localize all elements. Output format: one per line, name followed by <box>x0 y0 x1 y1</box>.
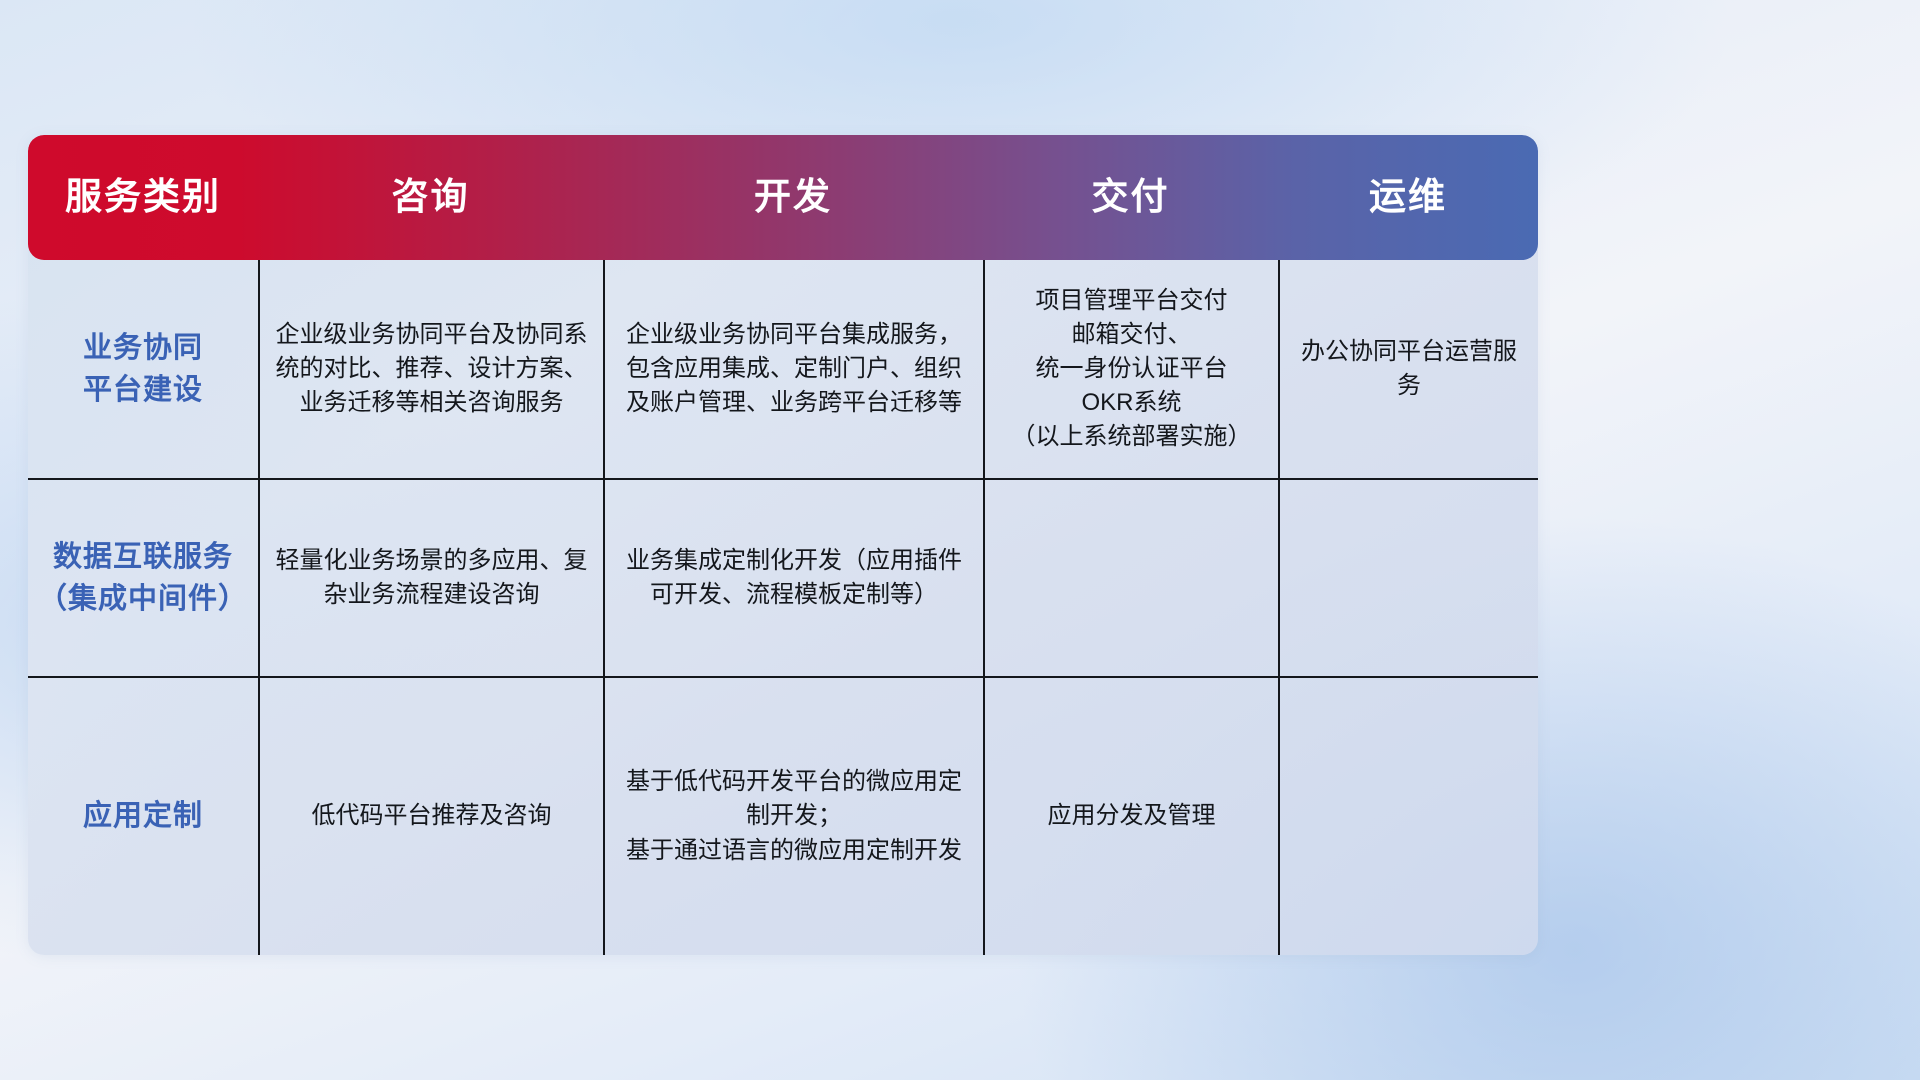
cell-consulting: 企业级业务协同平台及协同系 统的对比、推荐、设计方案、 业务迁移等相关咨询服务 <box>258 260 603 478</box>
table-header-row: 服务类别 咨询 开发 交付 运维 <box>28 135 1538 260</box>
cell-delivery: 应用分发及管理 <box>983 678 1278 955</box>
column-header-delivery: 交付 <box>983 177 1278 218</box>
cell-operations <box>1278 480 1538 676</box>
table-row: 数据互联服务 （集成中间件） 轻量化业务场景的多应用、复 杂业务流程建设咨询 业… <box>28 478 1538 676</box>
row-category-label: 应用定制 <box>28 678 258 955</box>
column-header-service-category: 服务类别 <box>28 177 258 218</box>
cell-operations: 办公协同平台运营服务 <box>1278 260 1538 478</box>
column-header-development: 开发 <box>603 177 983 218</box>
cell-consulting: 轻量化业务场景的多应用、复 杂业务流程建设咨询 <box>258 480 603 676</box>
cell-consulting: 低代码平台推荐及咨询 <box>258 678 603 955</box>
cell-development: 企业级业务协同平台集成服务， 包含应用集成、定制门户、组织 及账户管理、业务跨平… <box>603 260 983 478</box>
row-category-label: 数据互联服务 （集成中间件） <box>28 480 258 676</box>
service-matrix-table: 服务类别 咨询 开发 交付 运维 业务协同 平台建设 企业级业务协同平台及协同系… <box>28 135 1538 955</box>
cell-delivery <box>983 480 1278 676</box>
row-category-label: 业务协同 平台建设 <box>28 260 258 478</box>
column-header-operations: 运维 <box>1278 177 1538 218</box>
table-body: 业务协同 平台建设 企业级业务协同平台及协同系 统的对比、推荐、设计方案、 业务… <box>28 260 1538 955</box>
cell-development: 业务集成定制化开发（应用插件 可开发、流程模板定制等） <box>603 480 983 676</box>
cell-operations <box>1278 678 1538 955</box>
table-row: 业务协同 平台建设 企业级业务协同平台及协同系 统的对比、推荐、设计方案、 业务… <box>28 260 1538 478</box>
cell-development: 基于低代码开发平台的微应用定 制开发； 基于通过语言的微应用定制开发 <box>603 678 983 955</box>
column-header-consulting: 咨询 <box>258 177 603 218</box>
table-row: 应用定制 低代码平台推荐及咨询 基于低代码开发平台的微应用定 制开发； 基于通过… <box>28 676 1538 955</box>
cell-delivery: 项目管理平台交付 邮箱交付、 统一身份认证平台 OKR系统 （以上系统部署实施） <box>983 260 1278 478</box>
slide-canvas: 服务类别 咨询 开发 交付 运维 业务协同 平台建设 企业级业务协同平台及协同系… <box>0 0 1920 1080</box>
